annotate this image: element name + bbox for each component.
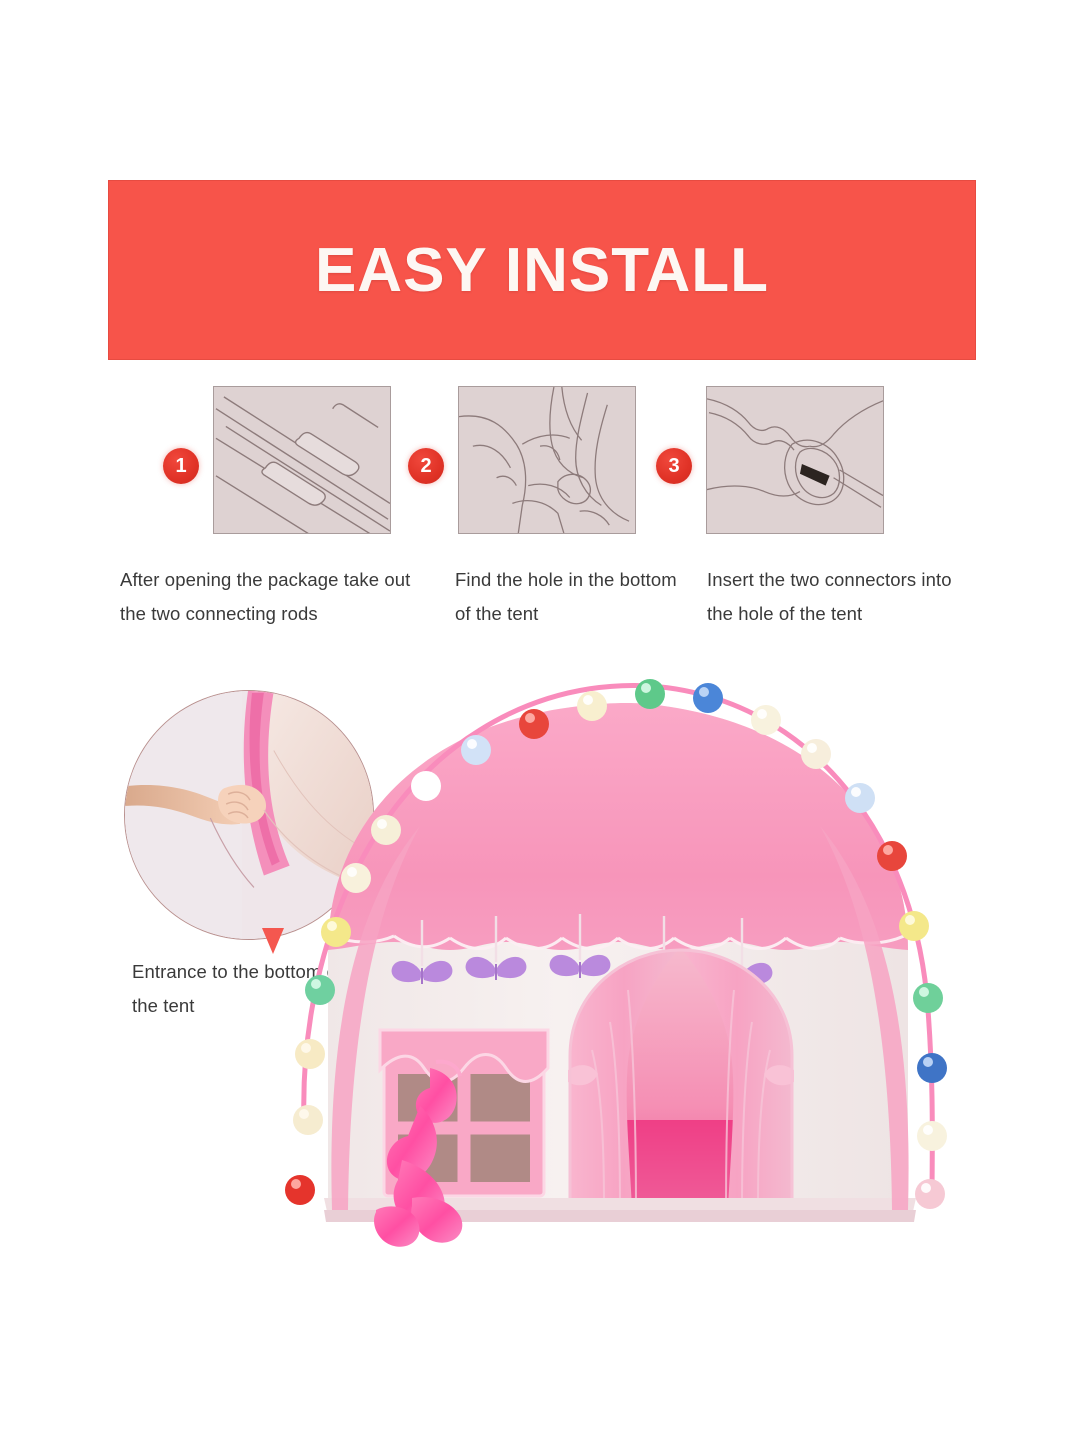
connecting-rods-illustration [213, 386, 391, 534]
step-caption-2: Find the hole in the bottom of the tent [455, 563, 685, 631]
step-badge-3: 3 [656, 448, 692, 484]
install-step-3: 3 [656, 386, 884, 561]
step-caption-3: Insert the two connectors into the hole … [707, 563, 977, 631]
step-caption-1: After opening the package take out the t… [120, 563, 420, 631]
install-step-1: 1 [163, 386, 391, 561]
banner-title: EASY INSTALL [315, 235, 769, 306]
step-badge-2: 2 [408, 448, 444, 484]
easy-install-banner: EASY INSTALL [108, 180, 976, 360]
install-step-2: 2 [408, 386, 636, 561]
rod-inserted-into-hole-illustration [706, 386, 884, 534]
play-tent-product-image [280, 650, 960, 1270]
step-badge-1: 1 [163, 448, 199, 484]
hands-finding-hole-illustration [458, 386, 636, 534]
install-steps: 1 2 [108, 386, 976, 561]
string-light-ball-red [285, 1175, 315, 1205]
